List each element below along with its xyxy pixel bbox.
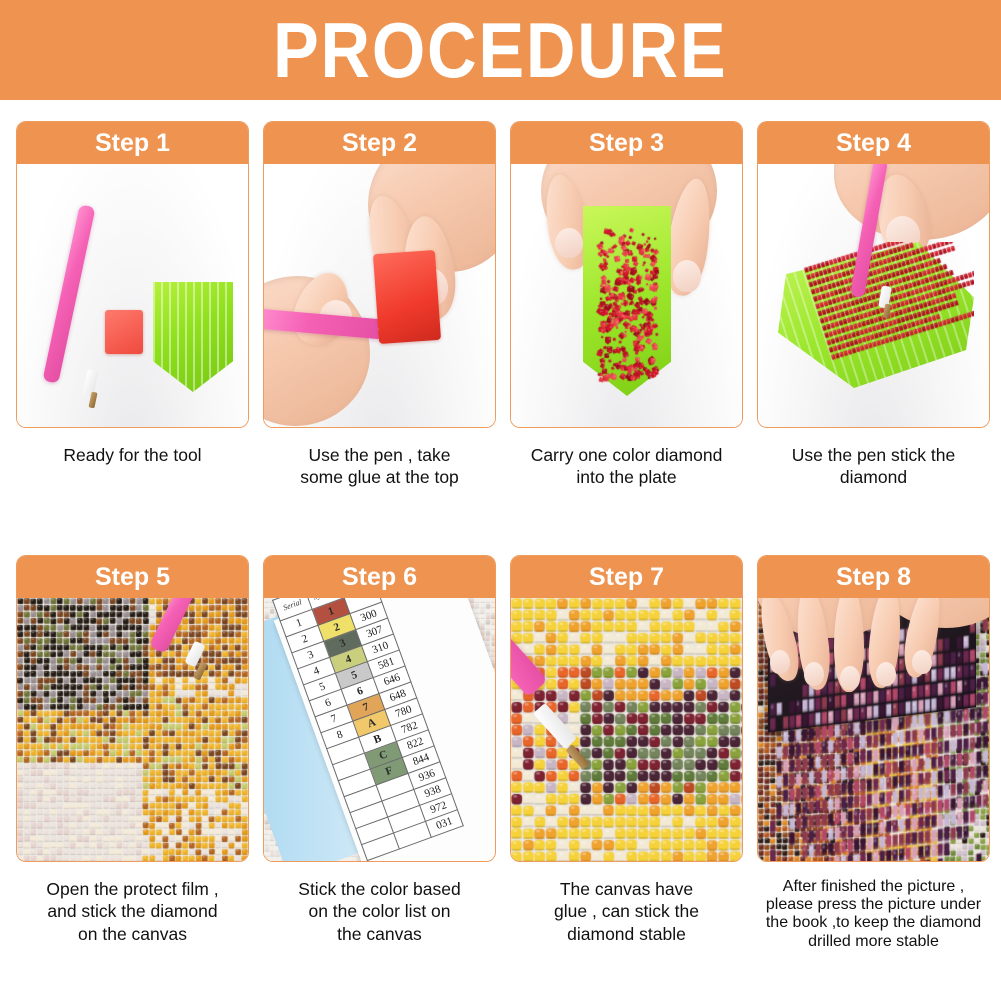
glue-square-icon bbox=[105, 310, 143, 354]
step-7-caption: The canvas have glue , can stick the dia… bbox=[510, 878, 743, 945]
step-card-7: Step 7 The canvas have glue , can stick … bbox=[510, 555, 743, 945]
step-1-header: Step 1 bbox=[17, 122, 248, 164]
step-card-8-frame: Step 8 bbox=[757, 555, 990, 862]
step-6-caption: Stick the color based on the color list … bbox=[263, 878, 496, 945]
step-6-header-label: Step 6 bbox=[342, 565, 417, 590]
sunflower-canvas-photo bbox=[17, 598, 248, 861]
diamond-mosaic bbox=[17, 598, 248, 861]
step-card-2: Step 2 bbox=[263, 121, 496, 489]
page-title: PROCEDURE bbox=[273, 11, 727, 89]
step-card-4: Step 4 bbox=[757, 121, 990, 489]
aligned-diamond-rows bbox=[774, 242, 974, 388]
diamond-rows-closeup bbox=[511, 598, 742, 861]
fingernail bbox=[912, 650, 932, 674]
step-card-4-frame: Step 4 bbox=[757, 121, 990, 428]
step-2-header-label: Step 2 bbox=[342, 131, 417, 156]
step-4-photo bbox=[758, 164, 989, 427]
step-3-photo bbox=[511, 164, 742, 427]
glued-canvas-photo bbox=[511, 598, 742, 861]
color-list-photo: SerialSymbolDMC1122300333074431055581666… bbox=[264, 598, 495, 861]
step-1-header-label: Step 1 bbox=[95, 131, 170, 156]
step-8-photo bbox=[758, 598, 989, 861]
procedure-infographic: PROCEDURE Step 1 bbox=[0, 0, 1001, 1001]
glue-square-icon bbox=[373, 250, 441, 344]
step-7-header: Step 7 bbox=[511, 556, 742, 598]
step-4-header: Step 4 bbox=[758, 122, 989, 164]
step-card-1: Step 1 bbox=[16, 121, 249, 466]
press-book-photo bbox=[758, 598, 989, 861]
glue-dip-photo bbox=[264, 164, 495, 427]
step-6-photo: SerialSymbolDMC1122300333074431055581666… bbox=[264, 598, 495, 861]
step-7-header-label: Step 7 bbox=[589, 565, 664, 590]
step-card-1-frame: Step 1 bbox=[16, 121, 249, 428]
step-4-caption: Use the pen stick the diamond bbox=[757, 444, 990, 489]
step-8-header: Step 8 bbox=[758, 556, 989, 598]
page-banner: PROCEDURE bbox=[0, 0, 1001, 100]
step-card-3-frame: Step 3 bbox=[510, 121, 743, 428]
step-card-5: Step 5 Open the protect film , and stick… bbox=[16, 555, 249, 945]
step-2-photo bbox=[264, 164, 495, 427]
step-card-6: Step 6 SerialS bbox=[263, 555, 496, 945]
steps-row-1: Step 1 bbox=[0, 121, 1001, 561]
step-5-caption: Open the protect film , and stick the di… bbox=[16, 878, 249, 945]
step-2-caption: Use the pen , take some glue at the top bbox=[263, 444, 496, 489]
step-3-caption: Carry one color diamond into the plate bbox=[510, 444, 743, 489]
step-3-header-label: Step 3 bbox=[589, 131, 664, 156]
steps-row-2: Step 5 Open the protect film , and stick… bbox=[0, 555, 1001, 995]
fingernail bbox=[673, 260, 701, 292]
step-1-photo bbox=[17, 164, 248, 427]
step-card-5-frame: Step 5 bbox=[16, 555, 249, 862]
tools-photo bbox=[17, 164, 248, 427]
step-card-8: Step 8 bbox=[757, 555, 990, 951]
step-6-header: Step 6 bbox=[264, 556, 495, 598]
step-8-caption: After finished the picture , please pres… bbox=[757, 878, 990, 951]
step-card-7-frame: Step 7 bbox=[510, 555, 743, 862]
step-2-header: Step 2 bbox=[264, 122, 495, 164]
step-7-photo bbox=[511, 598, 742, 861]
pick-diamond-photo bbox=[758, 164, 989, 427]
step-5-photo bbox=[17, 598, 248, 861]
step-card-6-frame: Step 6 SerialS bbox=[263, 555, 496, 862]
fingernail bbox=[804, 662, 824, 686]
step-1-caption: Ready for the tool bbox=[16, 444, 249, 466]
fingernail bbox=[555, 228, 583, 258]
beads-in-tray-photo bbox=[511, 164, 742, 427]
step-3-header: Step 3 bbox=[511, 122, 742, 164]
step-card-2-frame: Step 2 bbox=[263, 121, 496, 428]
red-diamond-beads bbox=[583, 206, 671, 396]
step-5-header-label: Step 5 bbox=[95, 565, 170, 590]
step-5-header: Step 5 bbox=[17, 556, 248, 598]
fingernail bbox=[840, 666, 860, 690]
fingernail bbox=[876, 662, 896, 686]
fingernail bbox=[770, 650, 790, 674]
step-card-3: Step 3 bbox=[510, 121, 743, 489]
steps-grid: Step 1 bbox=[0, 100, 1001, 1001]
step-8-header-label: Step 8 bbox=[836, 565, 911, 590]
step-4-header-label: Step 4 bbox=[836, 131, 911, 156]
